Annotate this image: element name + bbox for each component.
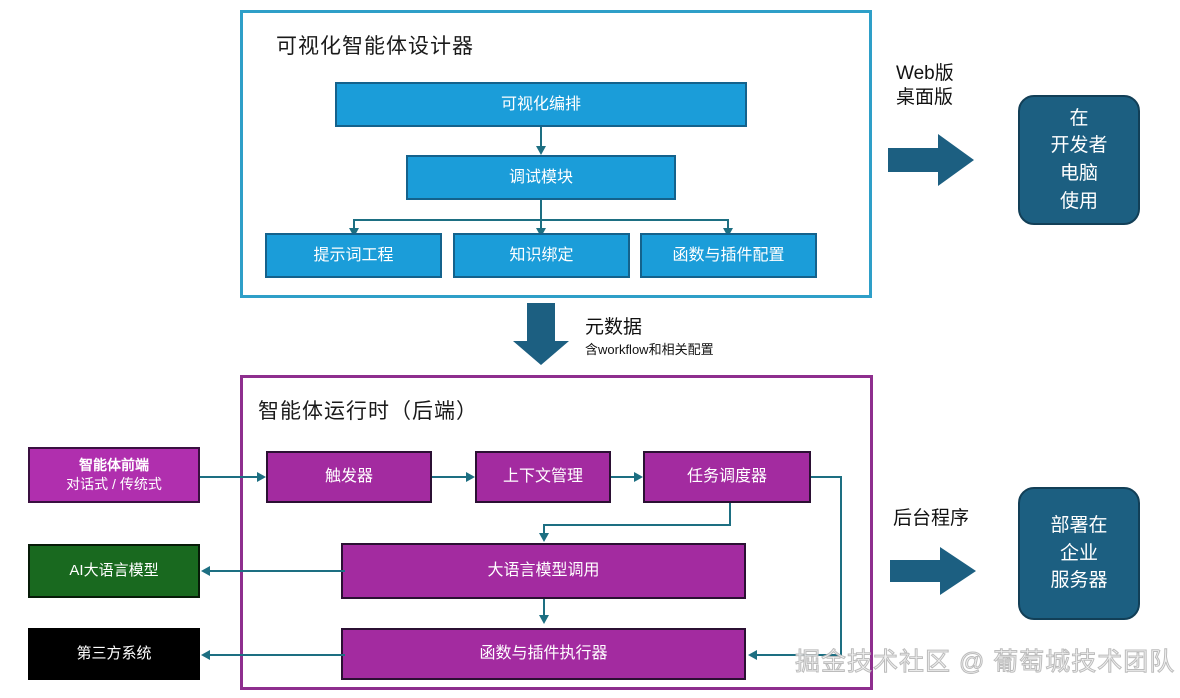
metadata-subtitle: 含workflow和相关配置 — [585, 339, 714, 358]
runtime-deploy-target-line-0: 部署在 — [1050, 512, 1107, 540]
runtime-deploy-target-line-2: 服务器 — [1050, 567, 1107, 595]
agent-frontend-line2: 对话式 / 传统式 — [66, 475, 162, 494]
arrowhead-right-scheduler — [634, 472, 643, 482]
node-debug[interactable]: 调试模块 — [406, 155, 676, 200]
node-function-plugin-executor[interactable]: 函数与插件执行器 — [341, 628, 746, 680]
arrowhead-left-executor — [748, 650, 757, 660]
node-agent-frontend[interactable]: 智能体前端 对话式 / 传统式 — [28, 447, 200, 503]
runtime-title: 智能体运行时（后端） — [258, 395, 478, 425]
arrowhead-right-context — [466, 472, 475, 482]
connector-orchestration-debug — [540, 127, 542, 148]
connector-context-scheduler — [611, 476, 635, 478]
connector-trigger-context — [432, 476, 467, 478]
designer-deploy-label: Web版 桌面版 — [896, 62, 954, 111]
node-task-scheduler[interactable]: 任务调度器 — [643, 451, 811, 503]
arrowhead-down-debug — [536, 146, 546, 155]
node-knowledge-binding[interactable]: 知识绑定 — [453, 233, 630, 278]
connector-scheduler-left — [543, 524, 731, 526]
diagram-canvas: 可视化智能体设计器 可视化编排 调试模块 提示词工程 知识绑定 函数与插件配置 … — [0, 0, 1180, 698]
connector-scheduler-rightrail-top — [811, 476, 842, 478]
runtime-deploy-label: 后台程序 — [893, 507, 969, 531]
arrowhead-left-third-party — [201, 650, 210, 660]
node-ai-llm[interactable]: AI大语言模型 — [28, 544, 200, 598]
agent-frontend-line1: 智能体前端 — [79, 456, 149, 475]
deploy-target-line-3: 使用 — [1060, 188, 1098, 216]
node-llm-invocation[interactable]: 大语言模型调用 — [341, 543, 746, 599]
designer-deploy-label-line2: 桌面版 — [896, 87, 953, 108]
watermark: 掘金技术社区 @ 葡萄城技术团队 — [795, 642, 1175, 678]
designer-deploy-label-line1: Web版 — [896, 63, 954, 84]
designer-deploy-target[interactable]: 在 开发者 电脑 使用 — [1018, 95, 1140, 225]
node-orchestration[interactable]: 可视化编排 — [335, 82, 747, 127]
node-third-party-system[interactable]: 第三方系统 — [28, 628, 200, 680]
connector-llm-to-ai-model — [210, 570, 345, 572]
deploy-target-line-1: 开发者 — [1050, 132, 1107, 160]
runtime-block-arrow-right — [890, 545, 976, 597]
node-context-manager[interactable]: 上下文管理 — [475, 451, 611, 503]
node-trigger[interactable]: 触发器 — [266, 451, 432, 503]
node-prompt-engineering[interactable]: 提示词工程 — [265, 233, 442, 278]
runtime-deploy-target-line-1: 企业 — [1060, 540, 1098, 568]
deploy-target-line-0: 在 — [1069, 105, 1088, 133]
connector-debug-stem — [540, 200, 542, 220]
arrowhead-right-trigger — [257, 472, 266, 482]
designer-title: 可视化智能体设计器 — [276, 30, 474, 60]
designer-block-arrow-right — [888, 132, 974, 188]
connector-scheduler-down — [729, 503, 731, 526]
runtime-deploy-target[interactable]: 部署在 企业 服务器 — [1018, 487, 1140, 620]
arrowhead-down-llm — [539, 533, 549, 542]
node-function-plugin-config[interactable]: 函数与插件配置 — [640, 233, 817, 278]
metadata-title: 元数据 — [585, 312, 642, 339]
connector-scheduler-rightrail — [840, 476, 842, 655]
metadata-block-arrow-down — [512, 303, 570, 365]
arrowhead-down-executor — [539, 615, 549, 624]
deploy-target-line-2: 电脑 — [1060, 160, 1098, 188]
arrowhead-left-ai-model — [201, 566, 210, 576]
connector-frontend-trigger — [200, 476, 258, 478]
connector-executor-to-third-party — [210, 654, 345, 656]
